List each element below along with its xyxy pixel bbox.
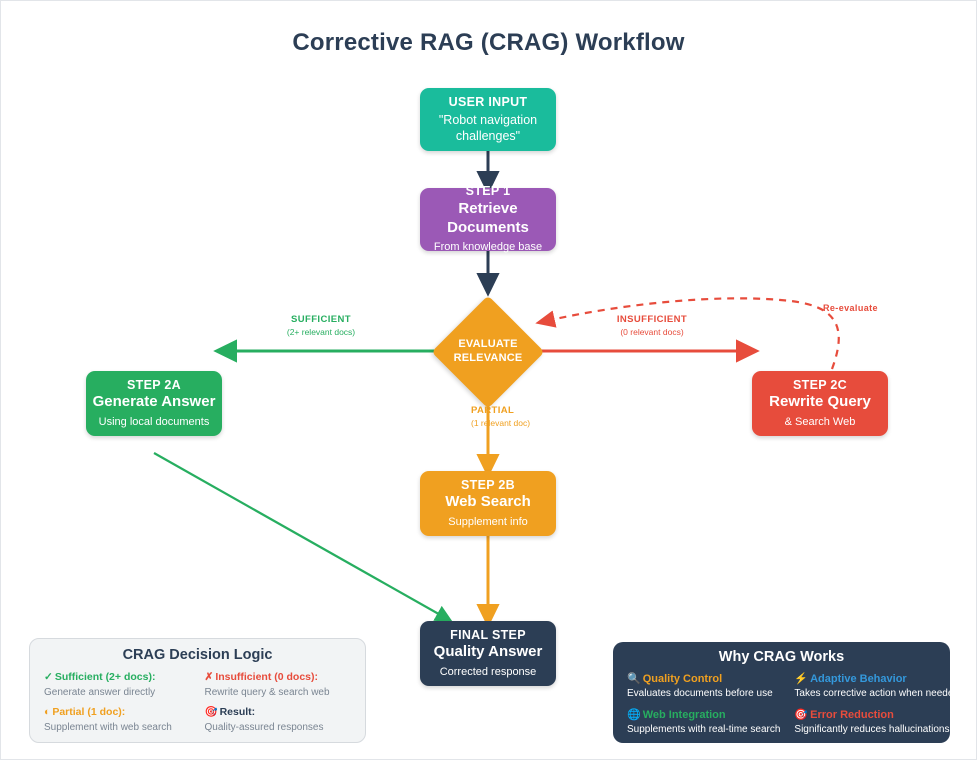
edge-label-sufficient-sub: (2+ relevant docs) — [256, 327, 386, 338]
node-step2b-title: Web Search — [445, 493, 531, 512]
node-step2a-sub: Using local documents — [99, 415, 210, 429]
legend-item-insufficient: ✗Insufficient (0 docs): Rewrite query & … — [205, 671, 352, 699]
why-crag-title: Why CRAG Works — [627, 649, 936, 665]
legend-error-reduction-head-text: Error Reduction — [810, 709, 894, 721]
node-step2c-title: Rewrite Query — [769, 393, 871, 412]
legend-sufficient-head-text: Sufficient (2+ docs): — [55, 671, 156, 683]
node-step2c-sub: & Search Web — [785, 415, 856, 429]
lightning-icon: ⚡ — [794, 673, 808, 685]
node-user-input[interactable]: USER INPUT "Robot navigation challenges" — [420, 88, 556, 151]
node-final-step[interactable]: FINAL STEP Quality Answer Corrected resp… — [420, 621, 556, 686]
node-final-title: Quality Answer — [434, 643, 543, 662]
legend-partial-head: ◐Partial (1 doc): — [44, 706, 191, 720]
legend-quality-control-head-text: Quality Control — [643, 673, 722, 685]
node-step2a[interactable]: STEP 2A Generate Answer Using local docu… — [86, 371, 222, 436]
legend-item-result: 🎯Result: Quality-assured responses — [205, 706, 352, 734]
decision-label-line2: RELEVANCE — [454, 352, 523, 364]
node-user-input-kicker: USER INPUT — [449, 95, 528, 111]
diagram-canvas: Corrective RAG (CRAG) Workflow — [1, 1, 976, 759]
legend-result-head-text: Result: — [220, 706, 256, 718]
node-step2c-kicker: STEP 2C — [793, 378, 847, 394]
legend-partial-sub: Supplement with web search — [44, 721, 191, 735]
edge-label-insufficient: INSUFFICIENT (0 relevant docs) — [587, 314, 717, 338]
legend-item-web-integration: 🌐Web Integration Supplements with real-t… — [627, 708, 780, 737]
check-icon: ✓ — [44, 671, 53, 683]
edge-label-sufficient-main: SUFFICIENT — [256, 314, 386, 326]
panel-decision-logic: CRAG Decision Logic ✓Sufficient (2+ docs… — [29, 638, 366, 743]
legend-insufficient-head: ✗Insufficient (0 docs): — [205, 671, 352, 685]
edge-label-partial-main: PARTIAL — [471, 405, 581, 417]
node-step2b-kicker: STEP 2B — [461, 478, 515, 494]
legend-insufficient-head-text: Insufficient (0 docs): — [215, 671, 318, 683]
node-step1-kicker: STEP 1 — [466, 184, 511, 200]
panel-why-crag-works: Why CRAG Works 🔍Quality Control Evaluate… — [613, 642, 950, 743]
edge-label-partial: PARTIAL (1 relevant doc) — [471, 405, 581, 429]
legend-error-reduction-head: 🎯Error Reduction — [794, 708, 959, 722]
node-step1-title: Retrieve Documents — [426, 200, 550, 238]
edge-label-sufficient: SUFFICIENT (2+ relevant docs) — [256, 314, 386, 338]
legend-item-sufficient: ✓Sufficient (2+ docs): Generate answer d… — [44, 671, 191, 699]
legend-web-integration-head-text: Web Integration — [643, 709, 726, 721]
legend-item-error-reduction: 🎯Error Reduction Significantly reduces h… — [794, 708, 959, 737]
node-final-kicker: FINAL STEP — [450, 628, 526, 644]
legend-adaptive-behavior-head: ⚡Adaptive Behavior — [794, 672, 959, 686]
node-user-input-sub: "Robot navigation challenges" — [426, 112, 550, 145]
decision-diamond-label: EVALUATE RELEVANCE — [428, 338, 548, 366]
node-step2b[interactable]: STEP 2B Web Search Supplement info — [420, 471, 556, 536]
globe-icon: 🌐 — [627, 709, 641, 721]
target-icon: 🎯 — [205, 706, 218, 718]
legend-partial-head-text: Partial (1 doc): — [52, 706, 125, 718]
legend-item-quality-control: 🔍Quality Control Evaluates documents bef… — [627, 672, 780, 701]
edge-label-partial-sub: (1 relevant doc) — [471, 418, 581, 429]
legend-item-partial: ◐Partial (1 doc): Supplement with web se… — [44, 706, 191, 734]
legend-sufficient-sub: Generate answer directly — [44, 686, 191, 700]
target-icon: 🎯 — [794, 709, 808, 721]
node-step2c[interactable]: STEP 2C Rewrite Query & Search Web — [752, 371, 888, 436]
legend-item-adaptive-behavior: ⚡Adaptive Behavior Takes corrective acti… — [794, 672, 959, 701]
edge-label-reevaluate-main: Re-evaluate — [823, 303, 913, 314]
edge-step2a-to-final — [154, 453, 444, 617]
legend-quality-control-head: 🔍Quality Control — [627, 672, 780, 686]
cross-icon: ✗ — [205, 671, 214, 683]
why-crag-grid: 🔍Quality Control Evaluates documents bef… — [627, 672, 936, 737]
node-step2a-title: Generate Answer — [93, 393, 216, 412]
legend-adaptive-behavior-head-text: Adaptive Behavior — [810, 673, 907, 685]
node-step2b-sub: Supplement info — [448, 515, 528, 529]
edge-label-insufficient-sub: (0 relevant docs) — [587, 327, 717, 338]
legend-error-reduction-sub: Significantly reduces hallucinations — [794, 723, 959, 737]
legend-web-integration-head: 🌐Web Integration — [627, 708, 780, 722]
legend-result-head: 🎯Result: — [205, 706, 352, 720]
legend-quality-control-sub: Evaluates documents before use — [627, 687, 780, 701]
legend-insufficient-sub: Rewrite query & search web — [205, 686, 352, 700]
decision-label-line1: EVALUATE — [458, 338, 517, 350]
legend-web-integration-sub: Supplements with real-time search — [627, 723, 780, 737]
decision-logic-grid: ✓Sufficient (2+ docs): Generate answer d… — [44, 671, 351, 734]
page-title: Corrective RAG (CRAG) Workflow — [1, 29, 976, 57]
node-step1[interactable]: STEP 1 Retrieve Documents From knowledge… — [420, 188, 556, 251]
edge-label-insufficient-main: INSUFFICIENT — [587, 314, 717, 326]
decision-logic-title: CRAG Decision Logic — [44, 647, 351, 663]
legend-sufficient-head: ✓Sufficient (2+ docs): — [44, 671, 191, 685]
node-final-sub: Corrected response — [440, 665, 537, 679]
edge-label-reevaluate: Re-evaluate — [823, 303, 913, 314]
magnifier-icon: 🔍 — [627, 673, 641, 685]
node-step1-sub: From knowledge base — [434, 240, 542, 254]
legend-result-sub: Quality-assured responses — [205, 721, 352, 735]
legend-adaptive-behavior-sub: Takes corrective action when needed — [794, 687, 959, 701]
half-circle-icon: ◐ — [44, 706, 50, 718]
node-step2a-kicker: STEP 2A — [127, 378, 181, 394]
